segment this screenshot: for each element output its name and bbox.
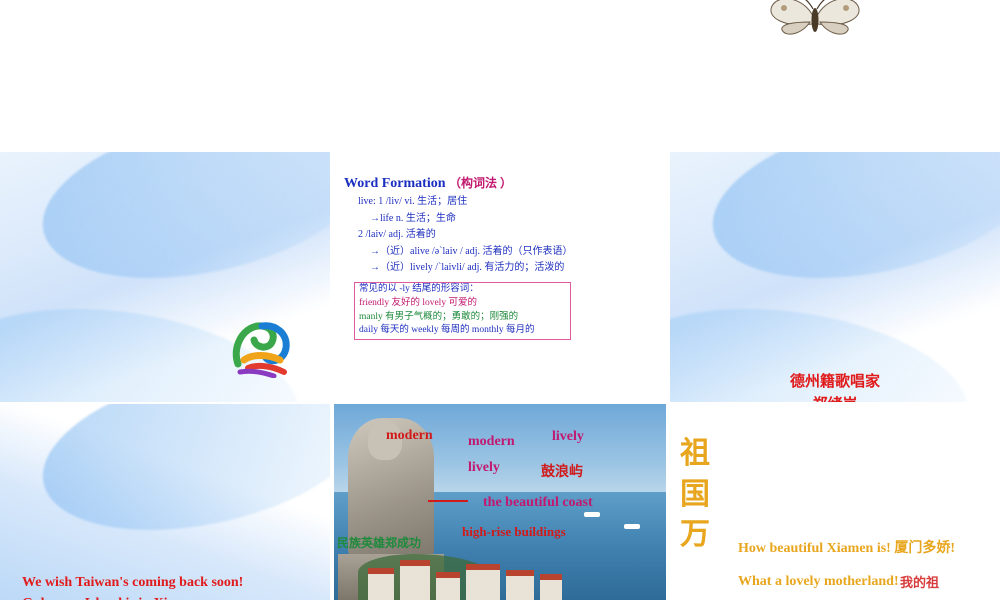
label-lively-1: lively xyxy=(552,429,584,445)
module-label: Module 4 Module 4 xyxy=(0,400,330,402)
building-5 xyxy=(506,570,534,600)
building-6 xyxy=(540,574,562,600)
wf-line-1: live: 1 /liv/ vi. 生活；居住 xyxy=(344,195,654,209)
wf-line-4: →（近）alive /ə`laiv / adj. 活着的（只作表语） xyxy=(344,245,654,259)
slide-row-1: Module 4 Module 4 A Lively City Qihe Dez… xyxy=(0,152,1000,402)
stamp-text: 我的祖 xyxy=(900,572,939,591)
building-2 xyxy=(400,560,430,600)
taiwan-text: We wish Taiwan's coming back soon! Gulan… xyxy=(22,572,322,600)
singer-line-1: 德州籍歌唱家 xyxy=(670,370,1000,393)
slide-deck-canvas: Module 4 Module 4 A Lively City Qihe Dez… xyxy=(0,0,1000,600)
building-3 xyxy=(436,572,460,600)
decor-swoosh xyxy=(28,152,330,305)
word-formation-heading: Word Formation （构词法 ） xyxy=(344,174,654,192)
wf-line-3: 2 /laiv/ adj. 活着的 xyxy=(344,228,654,242)
wf-box-item-2: manly 有男子气概的；勇敢的；刚强的 xyxy=(355,311,570,325)
slide-singer[interactable]: 德州籍歌唱家 郑绪岚 之《鼓浪屿之波》选段 xyxy=(670,152,1000,402)
label-modern-1: modern xyxy=(386,428,433,444)
label-lively-2: lively xyxy=(468,460,500,476)
wf-box-item-1: friendly 友好的 lovely 可爱的 xyxy=(355,297,570,311)
label-national-hero: 民族英雄郑成功 xyxy=(337,534,421,551)
zuguo-char-2: 国 xyxy=(672,475,718,516)
column-divider-2 xyxy=(666,152,668,600)
adjective-suffix-box: 常见的以 -ly 结尾的形容词： friendly 友好的 lovely 可爱的… xyxy=(354,282,571,340)
singer-text: 德州籍歌唱家 郑绪岚 之《鼓浪屿之波》选段 xyxy=(670,370,1000,402)
building-4 xyxy=(466,564,500,600)
slide-title[interactable]: Module 4 Module 4 A Lively City Qihe Dez… xyxy=(0,152,330,402)
wf-box-item-3: daily 每天的 weekly 每周的 monthly 每月的 xyxy=(355,324,570,338)
zuguo-char-1: 祖 xyxy=(672,434,718,475)
colorful-swirl-logo-icon xyxy=(228,320,298,378)
slide-word-formation[interactable]: Word Formation （构词法 ） live: 1 /liv/ vi. … xyxy=(334,152,666,402)
column-divider-1 xyxy=(330,152,332,600)
boat-icon-2 xyxy=(624,524,640,529)
taiwan-line-2: Gulangyu Island is in Xiamen. xyxy=(22,593,322,600)
pointer-line xyxy=(428,500,468,502)
label-high-rise-buildings: high-rise buildings xyxy=(462,524,566,540)
wf-line-2: →life n. 生活；生命 xyxy=(344,212,654,226)
building-1 xyxy=(368,568,394,600)
wf-line-5: →（近）lively /`laivli/ adj. 有活力的；活泼的 xyxy=(344,261,654,275)
boat-icon-1 xyxy=(584,512,600,517)
xiamen-exclaim-line: How beautiful Xiamen is! 厦门多娇! xyxy=(738,537,955,557)
slide-motherland[interactable] xyxy=(670,404,1000,600)
wf-box-note: 常见的以 -ly 结尾的形容词： xyxy=(355,283,570,297)
butterfly-icon xyxy=(760,0,870,40)
word-formation-block: Word Formation （构词法 ） live: 1 /liv/ vi. … xyxy=(344,174,654,275)
decor-swoosh-3 xyxy=(698,152,1000,305)
singer-line-2: 郑绪岚 xyxy=(670,393,1000,402)
label-gulangyu: 鼓浪屿 xyxy=(541,461,583,481)
label-beautiful-coast: the beautiful coast xyxy=(483,495,593,511)
decor-swoosh-5 xyxy=(28,404,330,557)
zuguo-char-3: 万 xyxy=(672,515,718,556)
motherland-exclaim-line: What a lovely motherland! xyxy=(738,574,899,590)
label-modern-2: modern xyxy=(468,434,515,450)
vertical-motherland-text: 祖 国 万 xyxy=(672,434,718,556)
slide-taiwan[interactable]: We wish Taiwan's coming back soon! Gulan… xyxy=(0,404,330,600)
taiwan-line-1: We wish Taiwan's coming back soon! xyxy=(22,572,322,593)
